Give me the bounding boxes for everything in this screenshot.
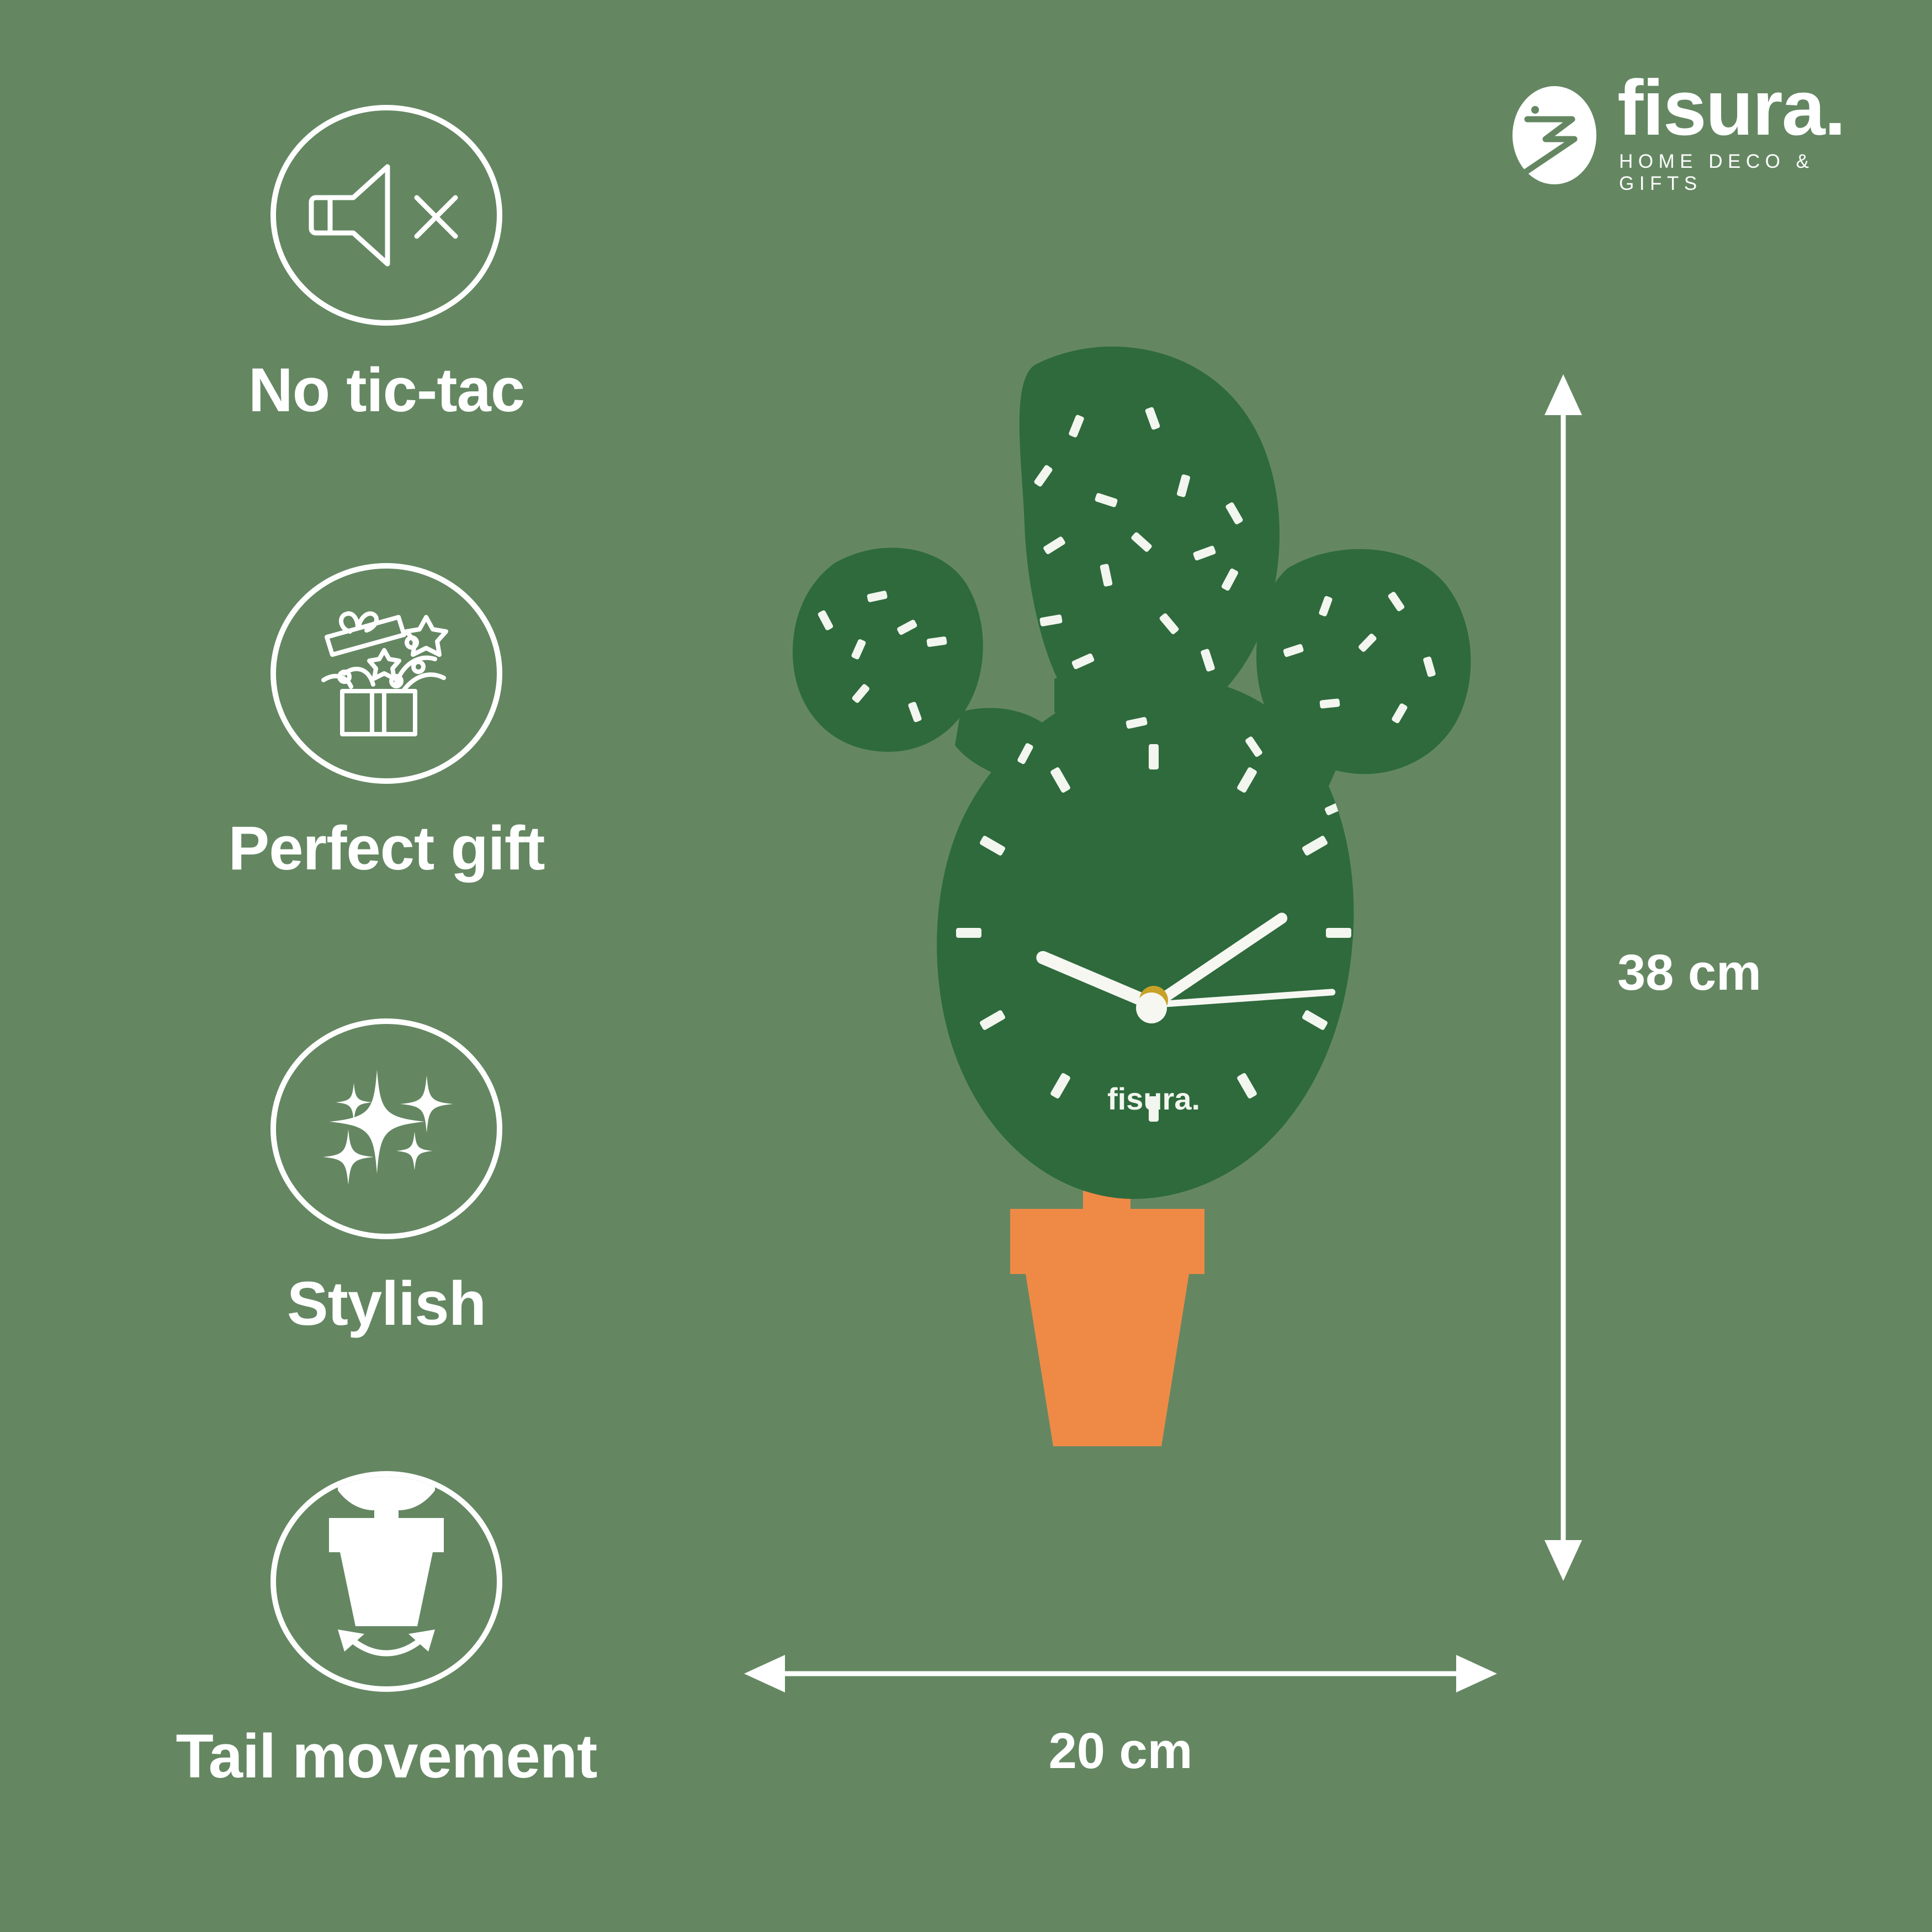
feature-icon-circle	[270, 105, 502, 326]
brand-tagline: HOME DECO & GIFTS	[1619, 151, 1855, 195]
dimension-height-label: 38 cm	[1617, 944, 1761, 1002]
horizontal-double-arrow-icon	[734, 1645, 1507, 1706]
feature-no-tic-tac: No tic-tac	[72, 105, 701, 426]
brand-text-block: fisura. HOME DECO & GIFTS	[1617, 72, 1855, 199]
feature-label: No tic-tac	[248, 354, 524, 426]
feature-icon-circle	[270, 1018, 502, 1239]
bolt-glyph-icon	[1512, 86, 1596, 184]
fisura-bolt-mark-icon	[1512, 86, 1596, 184]
gift-box-confetti-icon	[304, 596, 469, 751]
sparkles-icon	[306, 1060, 466, 1198]
feature-tail-movement: Tail movement	[72, 1471, 701, 1792]
cactus-silhouette	[793, 347, 1471, 1199]
vertical-double-arrow-icon	[1529, 364, 1601, 1590]
feature-perfect-gift: Perfect gift	[72, 563, 701, 884]
feature-label: Tail movement	[176, 1721, 597, 1792]
feature-stylish: Stylish	[72, 1018, 701, 1339]
dial-brand-text: fisura.	[1107, 1081, 1200, 1116]
swinging-flower-pot-icon	[276, 1476, 497, 1687]
dimension-width-label: 20 cm	[734, 1722, 1507, 1780]
dimension-height-arrow	[1529, 364, 1601, 1590]
feature-label: Stylish	[287, 1268, 486, 1339]
flower-pot	[1010, 1163, 1204, 1446]
cactus-clock-illustration: fisura.	[712, 326, 1501, 1612]
feature-icon-circle	[270, 563, 502, 784]
feature-icon-circle	[270, 1471, 502, 1692]
muted-speaker-icon	[304, 155, 469, 276]
product-image-cactus-clock: fisura.	[712, 326, 1501, 1612]
brand-logo: fisura. HOME DECO & GIFTS	[1512, 77, 1855, 193]
feature-label: Perfect gift	[229, 813, 545, 884]
brand-wordmark: fisura.	[1617, 72, 1855, 145]
dimension-width-arrow	[734, 1645, 1507, 1706]
hand-center-cap	[1136, 992, 1167, 1023]
product-infographic: fisura. HOME DECO & GIFTS No tic-tac	[0, 0, 1932, 1932]
